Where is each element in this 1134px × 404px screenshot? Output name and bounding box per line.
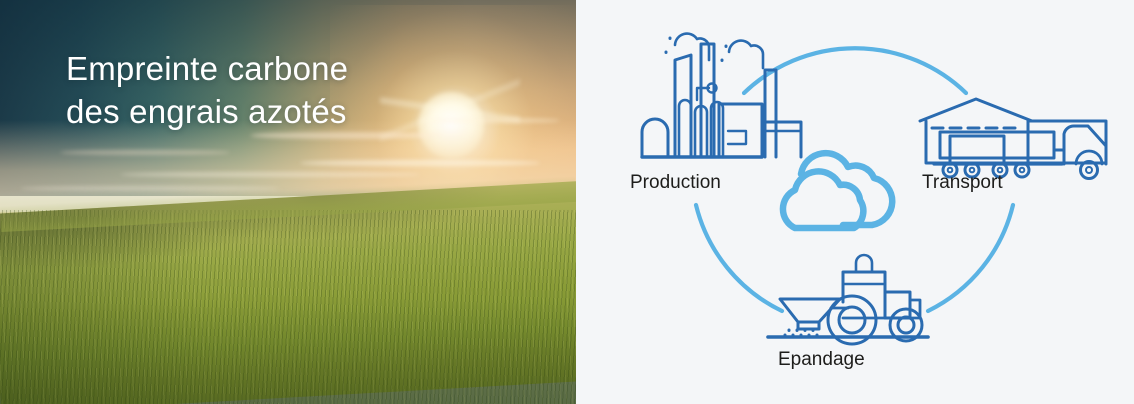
cloud-streak [60,150,230,155]
factory-icon [642,34,801,157]
field-vignette [0,300,576,404]
node-label-production: Production [630,172,721,194]
page-title: Empreinte carbone des engrais azotés [66,48,546,134]
cloud-icon [783,153,892,228]
carbon-cycle-diagram: Production Transport Epandage [576,0,1134,404]
hero-banner: Empreinte carbone des engrais azotés [0,0,1134,404]
page-title-line-1: Empreinte carbone [66,48,546,91]
page-title-line-2: des engrais azotés [66,91,546,134]
node-label-transport: Transport [922,172,1003,194]
tractor-spreader-icon [768,255,928,344]
landscape-photo: Empreinte carbone des engrais azotés [0,0,576,404]
node-label-epandage: Epandage [778,349,865,371]
diagram-canvas [576,0,1134,404]
arc-transport-to-epandage [928,205,1013,311]
cloud-streak [300,160,540,166]
warehouse-truck-icon [920,99,1106,179]
arc-epandage-to-production [696,205,782,311]
